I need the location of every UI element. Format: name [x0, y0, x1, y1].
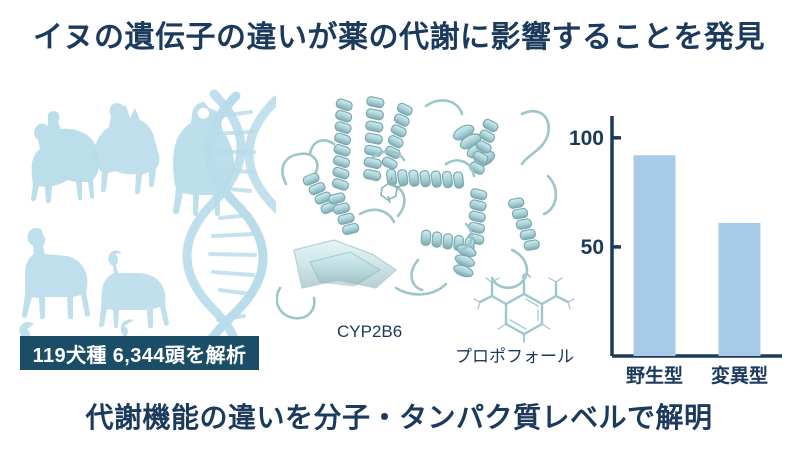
dog-dna-illustration: [14, 88, 276, 336]
x-axis-category-labels: 野生型変異型: [626, 364, 768, 387]
status-badge: 119犬種 6,344頭を解析: [20, 336, 259, 370]
molecule-label: プロポフォール: [455, 342, 574, 367]
bar-野生型: [634, 155, 676, 356]
bar-series: [634, 155, 761, 356]
summary-caption: 代謝機能の違いを分子・タンパク質レベルで解明: [0, 396, 798, 436]
poster-root: イヌの遺伝子の違いが薬の代謝に影響することを発見: [0, 0, 798, 449]
bar-変異型: [719, 223, 761, 356]
protein-label: CYP2B6: [337, 322, 402, 342]
propofol-molecule-illustration: [468, 272, 580, 344]
x-category-label: 変異型: [711, 364, 768, 387]
page-title: イヌの遺伝子の違いが薬の代謝に影響することを発見: [0, 12, 798, 56]
bar-chart: 50100 野生型変異型: [566, 100, 788, 390]
y-tick-label: 50: [581, 236, 604, 259]
y-tick-label: 100: [569, 127, 604, 150]
y-axis-tick-labels: 50100: [569, 127, 604, 259]
x-category-label: 野生型: [626, 364, 683, 387]
